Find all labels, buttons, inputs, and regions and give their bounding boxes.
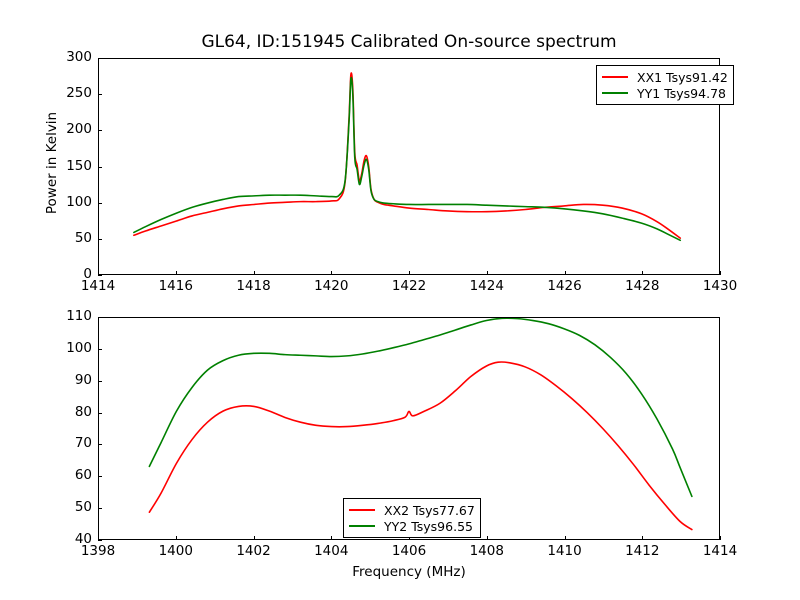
x-tick-mark [642,536,643,540]
x-tick-label: 1418 [224,278,284,294]
y-tick-mark [98,130,102,131]
legend-swatch-xx2 [349,509,375,511]
y-tick-label: 70 [46,435,92,451]
x-tick-mark [331,271,332,275]
x-tick-label: 1416 [146,278,206,294]
y-tick-label: 200 [46,121,92,137]
x-tick-label: 1402 [224,543,284,559]
y-tick-label: 50 [46,230,92,246]
x-tick-label: 1426 [535,278,595,294]
legend-label-xx1: XX1 Tsys91.42 [637,70,728,85]
x-tick-label: 1398 [68,543,128,559]
x-tick-mark [176,271,177,275]
y-tick-mark [98,239,102,240]
x-tick-mark [331,536,332,540]
x-tick-label: 1408 [457,543,517,559]
y-tick-mark [98,540,102,541]
y-tick-label: 50 [46,499,92,515]
y-tick-mark [98,476,102,477]
x-tick-label: 1424 [457,278,517,294]
legend-swatch-xx1 [602,76,628,78]
y-tick-label: 250 [46,85,92,101]
legend-label-yy2: YY2 Tsys96.55 [384,519,473,534]
y-tick-label: 90 [46,372,92,388]
x-tick-mark [409,271,410,275]
y-tick-label: 110 [46,308,92,324]
x-tick-mark [565,271,566,275]
x-tick-mark [487,536,488,540]
x-tick-mark [487,271,488,275]
legend-label-xx2: XX2 Tsys77.67 [384,503,475,518]
legend-item: XX1 Tsys91.42 [602,69,728,85]
x-tick-mark [254,536,255,540]
x-tick-label: 1420 [301,278,361,294]
x-tick-label: 1422 [379,278,439,294]
y-tick-mark [98,275,102,276]
x-tick-label: 1414 [690,543,750,559]
x-tick-label: 1406 [379,543,439,559]
y-tick-mark [98,167,102,168]
y-tick-label: 80 [46,404,92,420]
legend-item: YY2 Tsys96.55 [349,518,475,534]
y-tick-mark [98,58,102,59]
x-tick-mark [254,271,255,275]
x-axis-label: Frequency (MHz) [98,564,720,580]
x-tick-label: 1412 [612,543,672,559]
page-title: GL64, ID:151945 Calibrated On-source spe… [98,32,720,52]
y-tick-mark [98,349,102,350]
x-tick-label: 1404 [301,543,361,559]
x-tick-label: 1428 [612,278,672,294]
x-tick-label: 1414 [68,278,128,294]
x-tick-label: 1430 [690,278,750,294]
y-tick-label: 100 [46,340,92,356]
y-tick-mark [98,203,102,204]
y-tick-label: 150 [46,158,92,174]
legend-swatch-yy2 [349,525,375,527]
legend-swatch-yy1 [602,92,628,94]
x-tick-mark [642,271,643,275]
y-tick-mark [98,94,102,95]
legend-label-yy1: YY1 Tsys94.78 [637,86,726,101]
x-tick-mark [176,536,177,540]
legend-item: XX2 Tsys77.67 [349,502,475,518]
y-tick-mark [98,444,102,445]
x-tick-mark [720,536,721,540]
y-tick-mark [98,317,102,318]
x-tick-mark [98,271,99,275]
y-tick-label: 300 [46,49,92,65]
y-tick-label: 100 [46,194,92,210]
y-tick-label: 60 [46,467,92,483]
x-tick-label: 1410 [535,543,595,559]
x-tick-mark [565,536,566,540]
y-tick-mark [98,508,102,509]
top-panel-legend: XX1 Tsys91.42 YY1 Tsys94.78 [596,65,734,105]
x-tick-label: 1400 [146,543,206,559]
bottom-panel-legend: XX2 Tsys77.67 YY2 Tsys96.55 [343,498,481,538]
y-tick-mark [98,413,102,414]
y-tick-mark [98,381,102,382]
legend-item: YY1 Tsys94.78 [602,85,728,101]
figure-canvas: GL64, ID:151945 Calibrated On-source spe… [0,0,800,600]
x-tick-mark [98,536,99,540]
x-tick-mark [720,271,721,275]
